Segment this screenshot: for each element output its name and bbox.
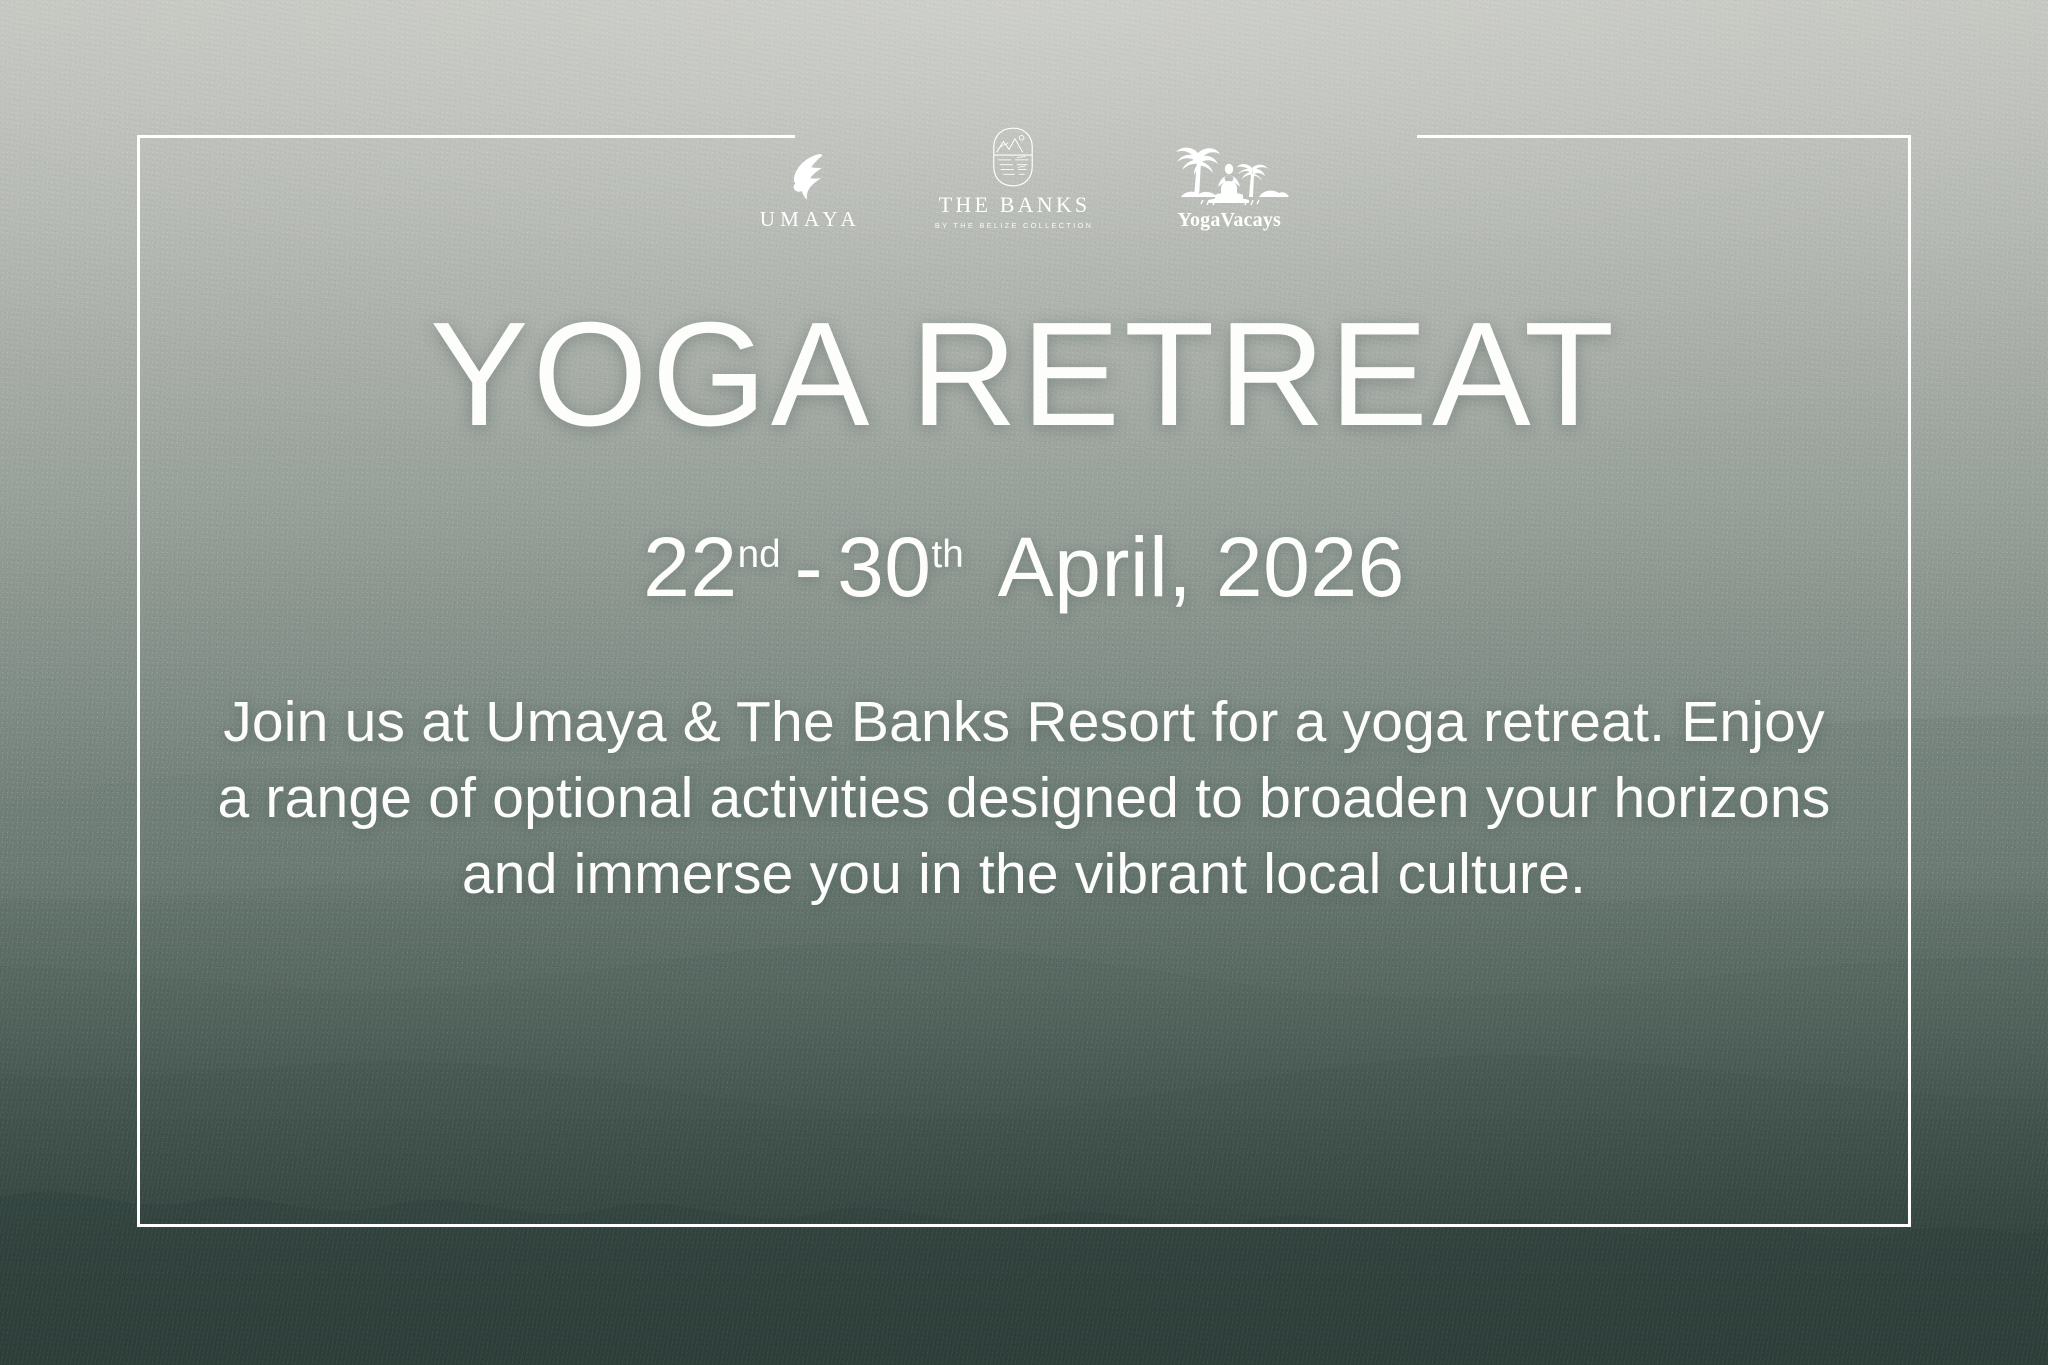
date-end-ordinal: th — [932, 533, 964, 576]
date-start-day: 22 — [643, 520, 737, 614]
date-end-day: 30 — [837, 520, 931, 614]
the-banks-tagline: BY THE BELIZE COLLECTION — [933, 221, 1093, 230]
the-banks-wordmark: THE BANKS — [936, 194, 1091, 216]
poster-description: Join us at Umaya & The Banks Resort for … — [214, 685, 1834, 912]
yogavacays-palm-meditation-icon — [1165, 143, 1293, 209]
the-banks-arch-emblem-icon — [988, 126, 1038, 188]
yogavacays-wordmark: YogaVacays — [1178, 210, 1282, 230]
logo-row: UMAYA — [0, 118, 2048, 230]
date-start-ordinal: nd — [738, 533, 781, 576]
poster-title: YOGA RETREAT — [137, 300, 1911, 451]
yoga-retreat-poster: UMAYA — [0, 0, 2048, 1365]
date-month-year: April, 2026 — [998, 520, 1405, 614]
logo-umaya: UMAYA — [755, 145, 861, 230]
poster-content: YOGA RETREAT 22nd-30thApril, 2026 Join u… — [137, 300, 1911, 913]
date-separator: - — [781, 520, 837, 614]
umaya-wordmark: UMAYA — [755, 209, 861, 230]
retreat-dateline: 22nd-30thApril, 2026 — [137, 523, 1911, 611]
logo-the-banks: THE BANKS BY THE BELIZE COLLECTION — [933, 126, 1093, 230]
logo-yogavacays: YogaVacays — [1165, 143, 1293, 230]
umaya-bird-icon — [781, 145, 835, 201]
